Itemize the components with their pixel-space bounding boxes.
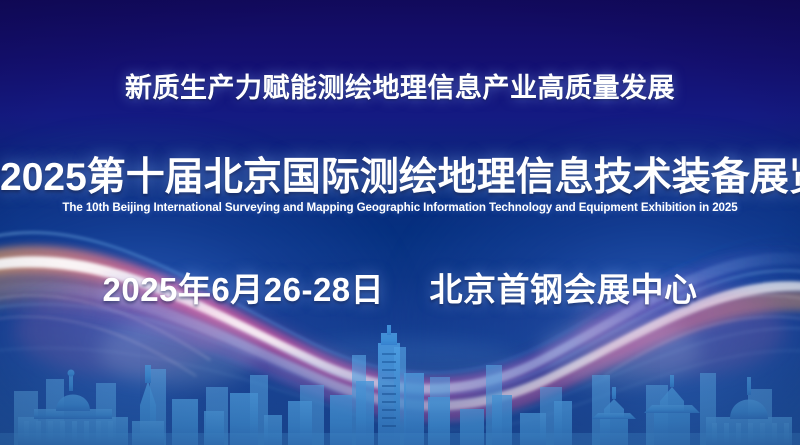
main-title: 2025第十届北京国际测绘地理信息技术装备展览会 <box>0 146 800 202</box>
date-venue-line: 2025年6月26-28日 北京首钢会展中心 <box>0 263 800 311</box>
english-subtitle: The 10th Beijing International Surveying… <box>0 201 800 214</box>
event-venue: 北京首钢会展中心 <box>430 271 698 308</box>
tagline-text: 新质生产力赋能测绘地理信息产业高质量发展 <box>0 66 800 105</box>
exhibition-banner: 新质生产力赋能测绘地理信息产业高质量发展 2025第十届北京国际测绘地理信息技术… <box>0 0 800 445</box>
event-date: 2025年6月26-28日 <box>102 271 384 308</box>
banner-text: 新质生产力赋能测绘地理信息产业高质量发展 2025第十届北京国际测绘地理信息技术… <box>0 0 800 445</box>
